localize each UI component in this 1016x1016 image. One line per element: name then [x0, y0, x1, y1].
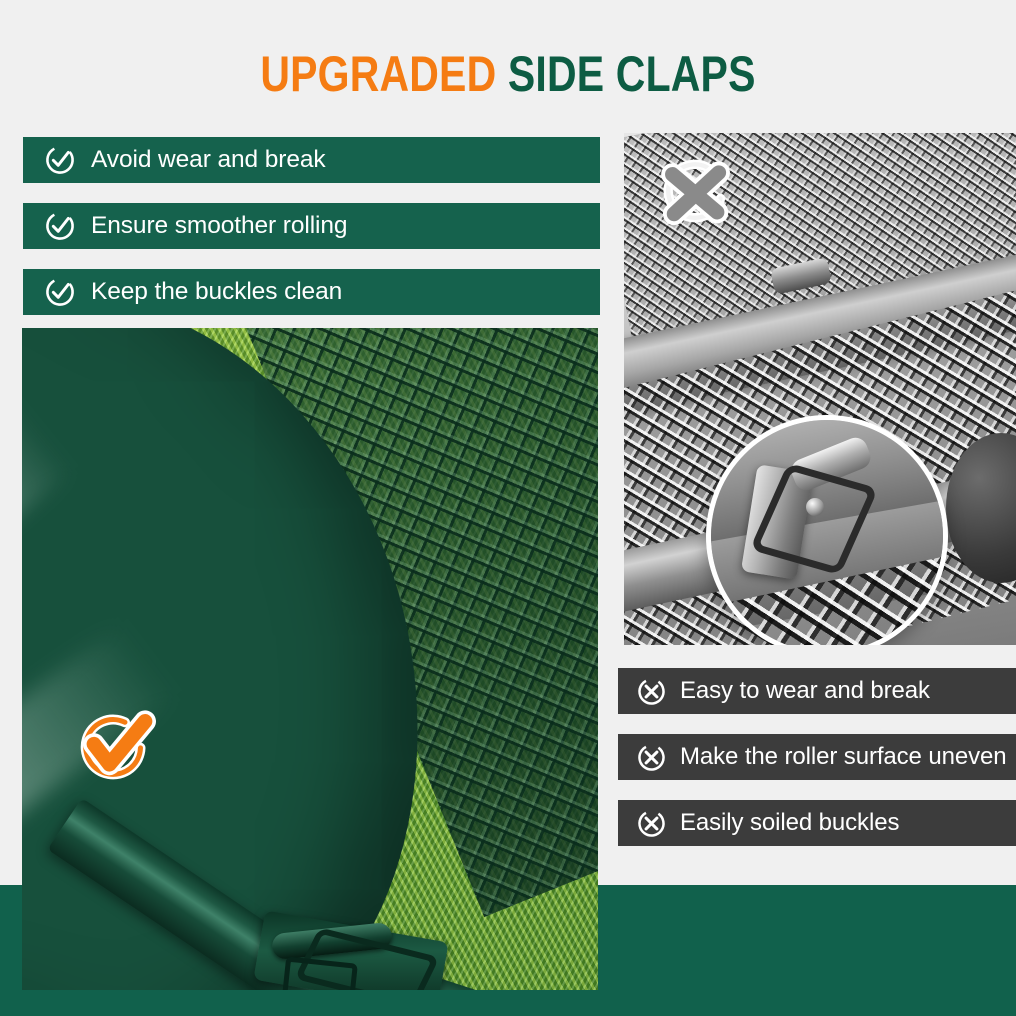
cross-circle-icon	[636, 808, 667, 839]
cross-badge-grey	[650, 155, 736, 235]
pro-item-3-label: Keep the buckles clean	[91, 279, 342, 305]
magnifier-circle-latch-detail	[706, 415, 948, 645]
pro-item-3: Keep the buckles clean	[23, 269, 600, 315]
pros-list: Avoid wear and break Ensure smoother rol…	[23, 137, 600, 335]
pro-item-1: Avoid wear and break	[23, 137, 600, 183]
con-item-1: Easy to wear and break	[618, 668, 1016, 714]
title-word-upgraded: UPGRADED	[260, 46, 496, 102]
con-item-3: Easily soiled buckles	[618, 800, 1016, 846]
title-word-side-claps: SIDE CLAPS	[508, 46, 756, 102]
pro-item-2-label: Ensure smoother rolling	[91, 213, 347, 239]
check-circle-icon	[44, 144, 76, 176]
cross-circle-icon	[636, 676, 667, 707]
con-item-2: Make the roller surface uneven	[618, 734, 1016, 780]
check-circle-icon	[44, 210, 76, 242]
cross-circle-icon	[636, 742, 667, 773]
con-item-1-label: Easy to wear and break	[680, 678, 930, 704]
con-item-2-label: Make the roller surface uneven	[680, 744, 1007, 770]
inset-latch-pin	[806, 498, 824, 516]
check-badge-orange	[68, 704, 160, 788]
pro-item-1-label: Avoid wear and break	[91, 147, 326, 173]
page-title: UPGRADED SIDE CLAPS	[91, 46, 924, 102]
con-item-3-label: Easily soiled buckles	[680, 810, 899, 836]
cons-list: Easy to wear and break Make the roller s…	[618, 668, 1016, 866]
infographic-page: UPGRADED SIDE CLAPS Avoid wear and break…	[0, 0, 1016, 1016]
check-circle-icon	[44, 276, 76, 308]
product-photo-ordinary	[624, 133, 1016, 645]
product-photo-upgraded	[22, 328, 598, 990]
pro-item-2: Ensure smoother rolling	[23, 203, 600, 249]
